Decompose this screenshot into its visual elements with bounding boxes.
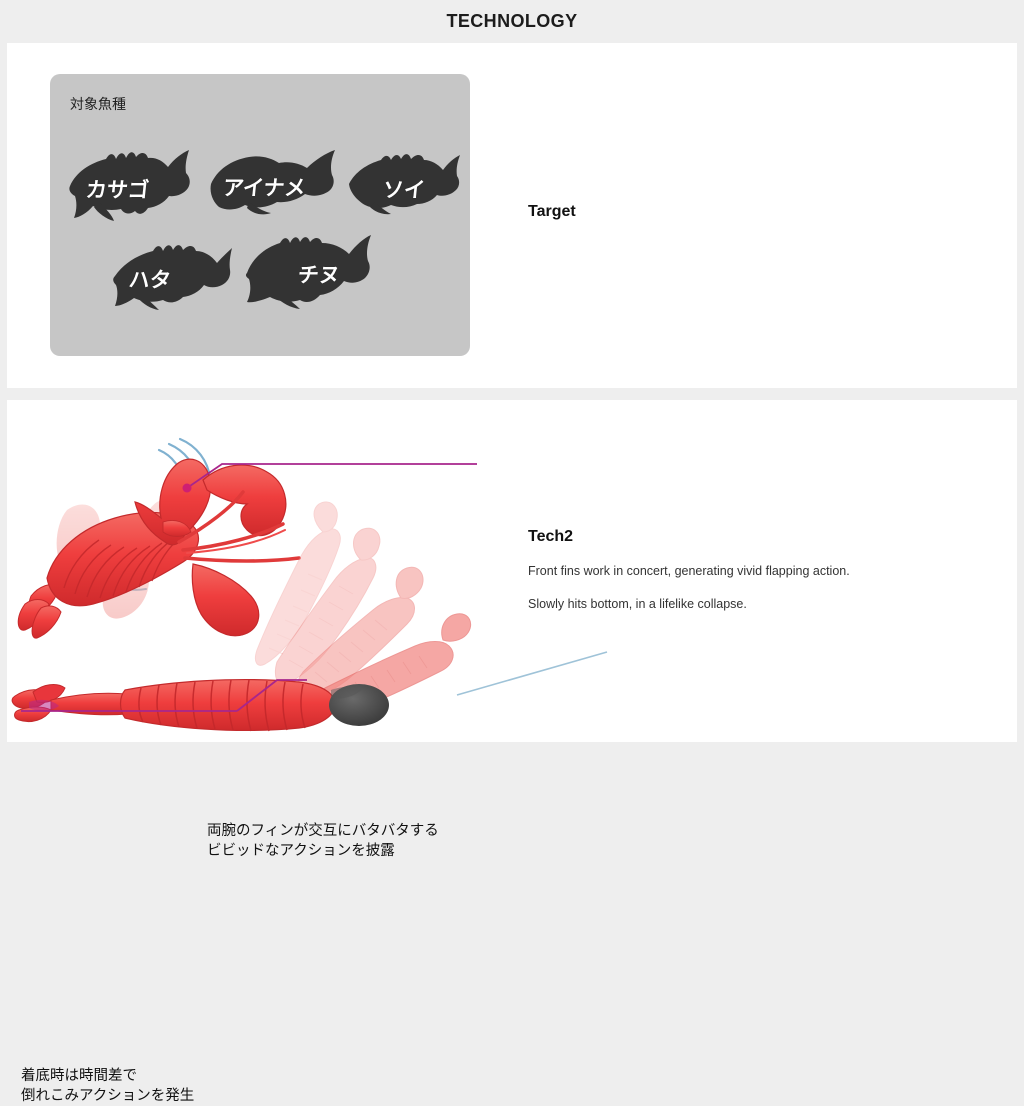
target-card-label: 対象魚種 (70, 94, 126, 114)
fish-name-1: カサゴ (84, 174, 150, 204)
page-bottom-edge (0, 742, 1024, 750)
fish-silhouette-1: カサゴ (62, 139, 192, 224)
fish-name-3: ソイ (381, 174, 426, 204)
fish-name-5: チヌ (296, 259, 341, 289)
target-fish-card: 対象魚種 カサゴ アイナメ (50, 74, 470, 356)
page-title: TECHNOLOGY (446, 11, 577, 32)
fish-silhouette-5: チヌ (242, 227, 372, 312)
page-right-edge (1017, 43, 1024, 742)
page-root: TECHNOLOGY 対象魚種 カサゴ アイナメ (0, 0, 1024, 750)
section-tech2: 両腕のフィンが交互にバタバタする ビビッドなアクションを披露 着底時は時間差で … (7, 400, 1017, 742)
crawfish-lure-group (18, 439, 299, 638)
callout-bottom: 着底時は時間差で 倒れこみアクションを発生 (21, 1066, 194, 1106)
tech2-artwork (7, 400, 1017, 742)
callout-bottom-line-2: 倒れこみアクションを発生 (21, 1086, 194, 1106)
fish-name-4: ハタ (127, 264, 172, 294)
target-heading: Target (528, 203, 576, 221)
callout-bottom-line-1: 着底時は時間差で (21, 1066, 194, 1086)
panel-divider (0, 388, 1024, 400)
page-left-edge (0, 43, 7, 742)
tech2-body-line-1: Front fins work in concert, generating v… (528, 562, 850, 581)
tech2-heading: Tech2 (528, 528, 573, 546)
fish-silhouette-3: ソイ (343, 144, 461, 216)
callout-top-line-2: ビビッドなアクションを披露 (207, 841, 439, 861)
fish-silhouette-2: アイナメ (205, 142, 340, 217)
callout-top: 両腕のフィンが交互にバタバタする ビビッドなアクションを披露 (207, 821, 439, 861)
section-target: 対象魚種 カサゴ アイナメ (7, 43, 1017, 388)
fish-silhouette-4: ハタ (107, 232, 232, 312)
tech2-body-line-2: Slowly hits bottom, in a lifelike collap… (528, 595, 747, 614)
page-header: TECHNOLOGY (0, 0, 1024, 43)
fish-name-2: アイナメ (221, 172, 307, 202)
fishing-line (457, 652, 607, 695)
callout-top-line-1: 両腕のフィンが交互にバタバタする (207, 821, 439, 841)
